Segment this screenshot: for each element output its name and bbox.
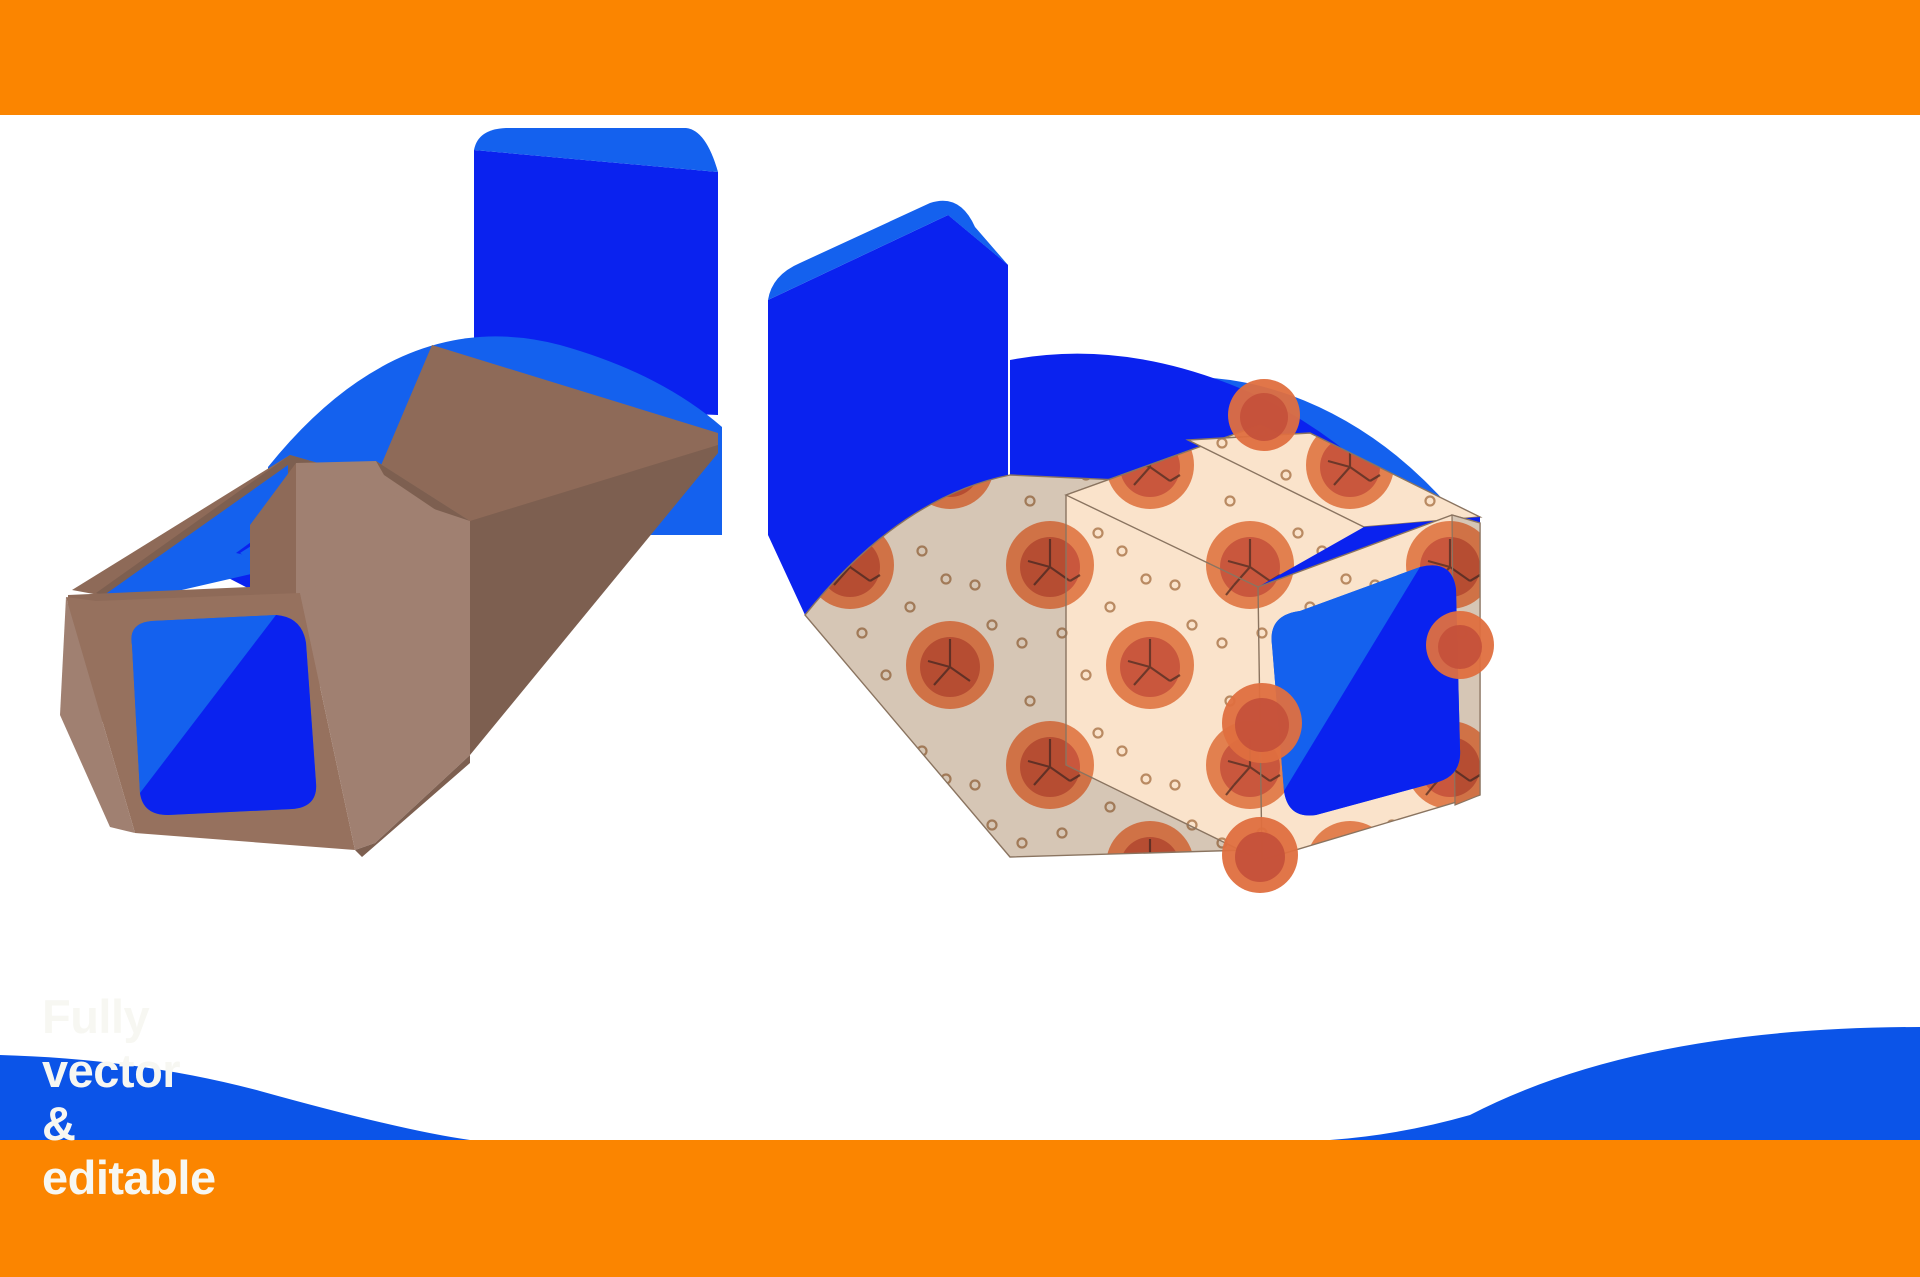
- printed-pizza-box-3d: [768, 201, 1494, 893]
- top-orange-bar: [0, 0, 1920, 115]
- mockup-artboard: [0, 115, 1920, 1140]
- caption-left-shape: [0, 1055, 470, 1140]
- kraft-box-3d: [60, 128, 722, 857]
- caption-right-shape: [1330, 1027, 1920, 1140]
- bottom-orange-bar: [0, 1140, 1920, 1277]
- screenshot-canvas: Fully vector & editable Easily usable fo…: [0, 0, 1920, 1277]
